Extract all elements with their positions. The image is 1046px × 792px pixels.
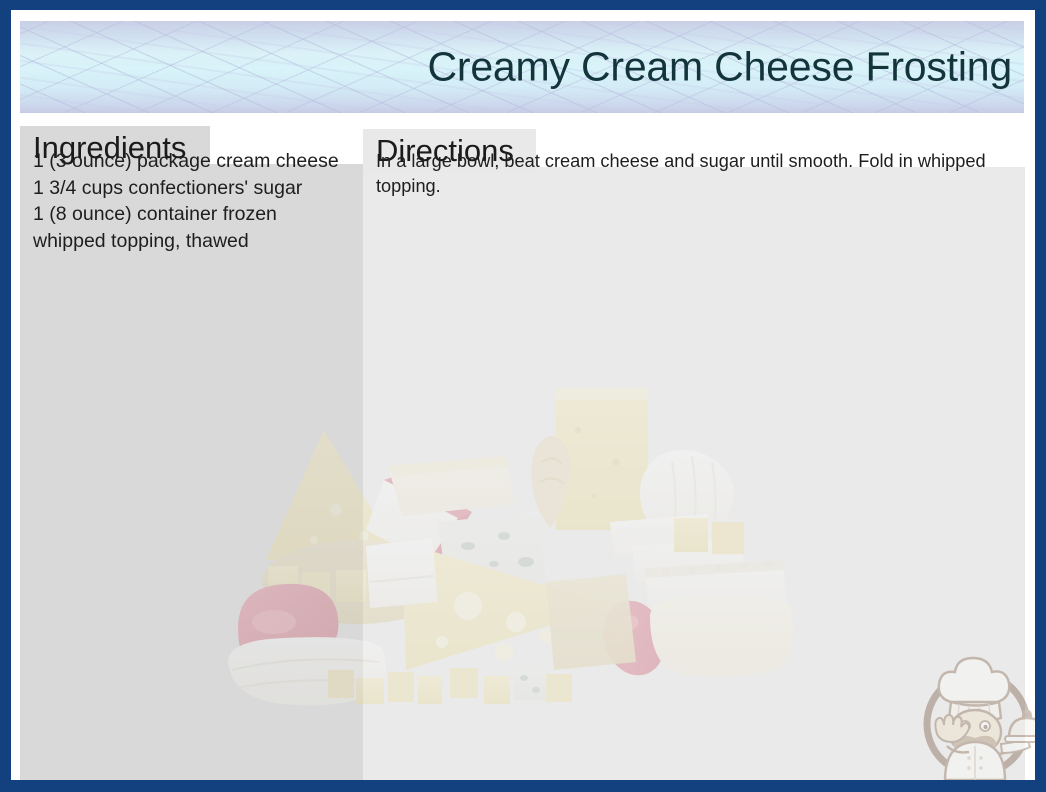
- ingredient-item: 1 (3 ounce) package cream cheese: [33, 148, 348, 175]
- ingredients-body: 1 (3 ounce) package cream cheese 1 3/4 c…: [20, 126, 364, 254]
- ingredients-panel: [20, 164, 364, 780]
- ingredient-item: 1 (8 ounce) container frozen whipped top…: [33, 201, 348, 254]
- direction-step: In a large bowl, beat cream cheese and s…: [376, 149, 1003, 199]
- title-banner: Creamy Cream Cheese Frosting: [20, 21, 1024, 113]
- ingredient-item: 1 3/4 cups confectioners' sugar: [33, 175, 348, 202]
- page-title: Creamy Cream Cheese Frosting: [427, 45, 1012, 88]
- recipe-slide: Creamy Cream Cheese Frosting Ingredients…: [0, 0, 1046, 792]
- directions-body: In a large bowl, beat cream cheese and s…: [363, 129, 1025, 199]
- chef-mascot-logo: [913, 650, 1035, 780]
- slide-canvas: Creamy Cream Cheese Frosting Ingredients…: [11, 10, 1035, 780]
- ingredients-column: Ingredients 1 (3 ounce) package cream ch…: [20, 126, 364, 780]
